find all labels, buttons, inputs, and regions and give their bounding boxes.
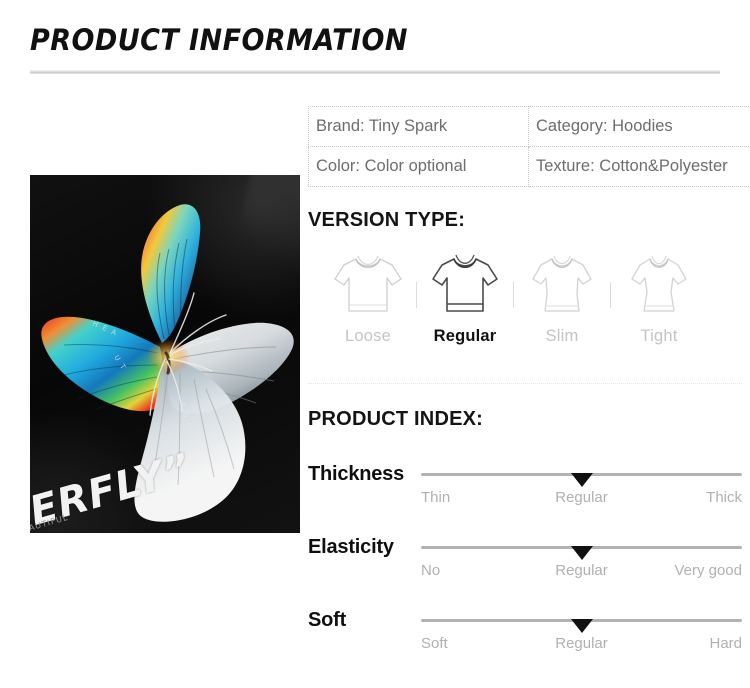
version-option-regular[interactable]: Regular — [417, 246, 513, 346]
shirt-icon-tight — [622, 246, 696, 318]
table-row: Color: Color optional Texture: Cotton&Po… — [309, 147, 750, 187]
soft-slider[interactable]: Soft Regular Hard — [421, 606, 742, 658]
table-row: Brand: Tiny Spark Category: Hoodies — [309, 107, 750, 147]
slider-tick-mid: Regular — [555, 489, 608, 506]
shirt-icon-regular — [428, 246, 502, 318]
slider-marker-icon[interactable] — [571, 619, 593, 633]
slider-tick-max: Thick — [706, 489, 742, 506]
index-row-soft: Soft Soft Regular Hard — [308, 606, 742, 668]
slider-tick-min: Thin — [421, 489, 450, 506]
product-index-heading: PRODUCT INDEX: — [308, 408, 483, 431]
index-row-elasticity: Elasticity No Regular Very good — [308, 533, 742, 595]
slider-marker-icon[interactable] — [571, 473, 593, 487]
page-title: PRODUCT INFORMATION — [30, 23, 408, 57]
elasticity-slider[interactable]: No Regular Very good — [421, 533, 742, 585]
version-label-tight: Tight — [640, 327, 677, 346]
version-option-slim[interactable]: Slim — [514, 246, 610, 346]
slider-ticks: No Regular Very good — [421, 562, 742, 579]
version-option-tight[interactable]: Tight — [611, 246, 707, 346]
version-type-options: Loose Regular — [320, 246, 738, 346]
version-label-slim: Slim — [546, 327, 579, 346]
slider-ticks: Thin Regular Thick — [421, 489, 742, 506]
slider-tick-mid: Regular — [555, 635, 608, 652]
slider-marker-icon[interactable] — [571, 546, 593, 560]
spec-brand: Brand: Tiny Spark — [309, 107, 529, 147]
slider-tick-min: Soft — [421, 635, 448, 652]
version-type-heading: VERSION TYPE: — [308, 209, 465, 232]
thickness-slider[interactable]: Thin Regular Thick — [421, 460, 742, 512]
index-label-thickness: Thickness — [308, 463, 404, 486]
shirt-icon-slim — [525, 246, 599, 318]
spec-table-container: Brand: Tiny Spark Category: Hoodies Colo… — [308, 106, 742, 187]
spec-table: Brand: Tiny Spark Category: Hoodies Colo… — [308, 106, 750, 187]
version-label-regular: Regular — [434, 327, 497, 346]
spec-texture: Texture: Cotton&Polyester — [529, 147, 750, 187]
slider-tick-min: No — [421, 562, 440, 579]
index-label-elasticity: Elasticity — [308, 536, 394, 559]
product-information-page: PRODUCT INFORMATION — [0, 0, 750, 688]
section-divider — [308, 383, 742, 384]
version-option-loose[interactable]: Loose — [320, 246, 416, 346]
spec-category: Category: Hoodies — [529, 107, 750, 147]
slider-tick-max: Very good — [674, 562, 742, 579]
slider-tick-mid: Regular — [555, 562, 608, 579]
spec-color: Color: Color optional — [309, 147, 529, 187]
shirt-icon-loose — [331, 246, 405, 318]
slider-ticks: Soft Regular Hard — [421, 635, 742, 652]
product-photo[interactable]: H E A U T A N D TERFLY” BEAUTIFUL — [30, 175, 300, 533]
index-row-thickness: Thickness Thin Regular Thick — [308, 460, 742, 522]
index-label-soft: Soft — [308, 609, 346, 632]
slider-tick-max: Hard — [709, 635, 742, 652]
title-divider-rule — [30, 70, 720, 74]
version-label-loose: Loose — [345, 327, 391, 346]
